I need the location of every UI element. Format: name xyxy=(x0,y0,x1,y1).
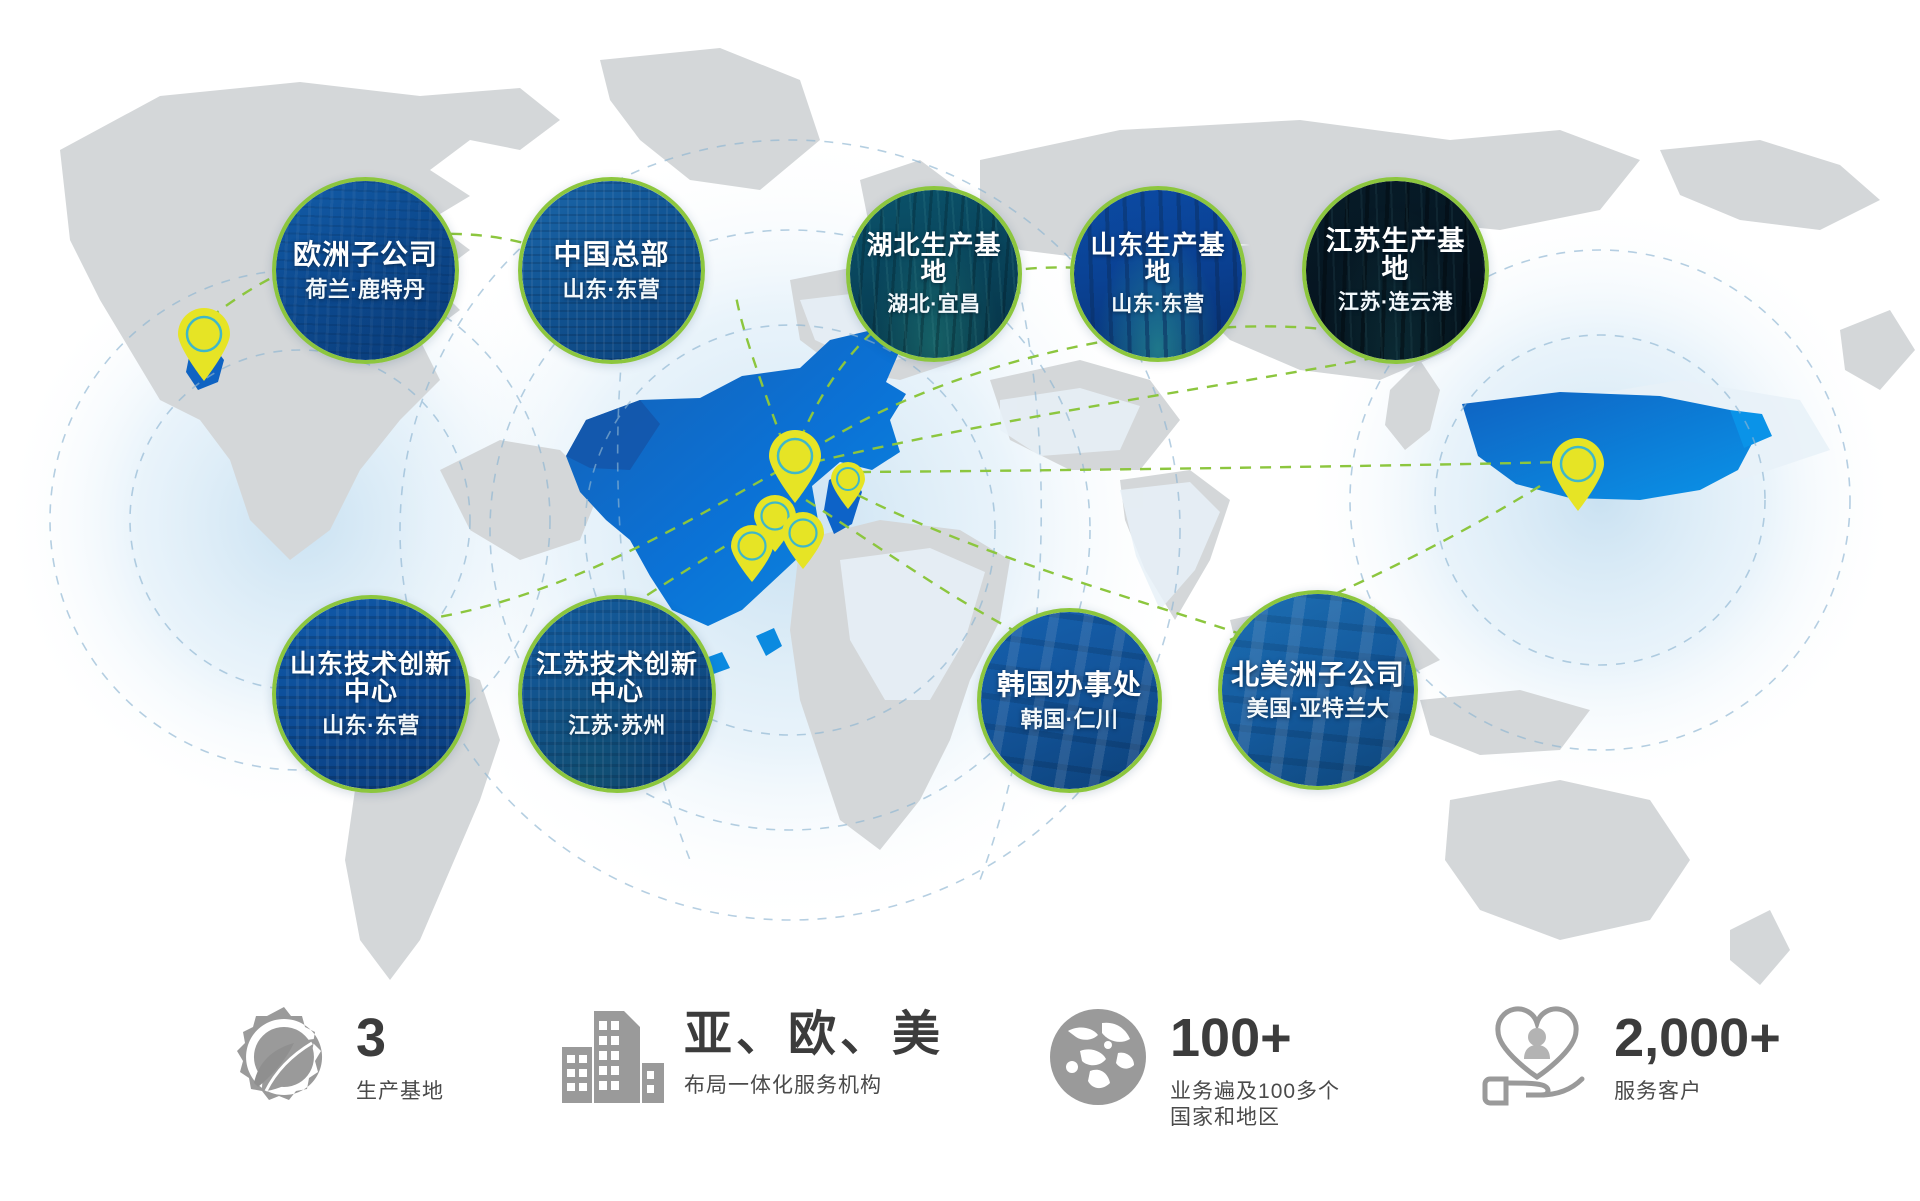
node-title: 中国总部 xyxy=(528,240,695,269)
node-title: 江苏技术创新中心 xyxy=(528,651,706,706)
node-subtitle: 山东·东营 xyxy=(282,714,460,737)
node-shandong-base[interactable]: 山东生产基地 山东·东营 xyxy=(1070,186,1246,362)
node-title: 欧洲子公司 xyxy=(282,240,449,269)
node-north-america-subsidiary[interactable]: 北美洲子公司 美国·亚特兰大 xyxy=(1218,590,1418,790)
stat-countries: 100+ 业务遍及100多个 国家和地区 xyxy=(1046,1005,1340,1132)
infographic-stage: 欧洲子公司 荷兰·鹿特丹 中国总部 山东·东营 湖北生产基地 湖北·宜昌 山东生… xyxy=(0,0,1920,1201)
node-title: 江苏生产基地 xyxy=(1312,227,1479,284)
stat-customers: 2,000+ 服务客户 xyxy=(1480,1005,1781,1114)
globe-icon xyxy=(1046,1005,1150,1114)
node-jiangsu-innovation-center[interactable]: 江苏技术创新中心 江苏·苏州 xyxy=(518,595,716,793)
stat-regions: 亚、欧、美 布局一体化服务机构 xyxy=(554,1005,944,1114)
node-title: 北美洲子公司 xyxy=(1228,660,1408,689)
stat-label: 布局一体化服务机构 xyxy=(684,1073,944,1099)
stat-label: 服务客户 xyxy=(1614,1079,1781,1105)
stat-label: 生产基地 xyxy=(356,1079,444,1105)
node-korea-office[interactable]: 韩国办事处 韩国·仁川 xyxy=(977,608,1162,793)
node-jiangsu-base[interactable]: 江苏生产基地 江苏·连云港 xyxy=(1302,177,1489,364)
node-subtitle: 山东·东营 xyxy=(528,278,695,301)
stat-production-bases: 3 生产基地 xyxy=(232,1005,444,1114)
node-title: 湖北生产基地 xyxy=(856,232,1012,287)
node-subtitle: 湖北·宜昌 xyxy=(856,294,1012,316)
heart-hand-icon xyxy=(1480,1005,1594,1114)
stat-value: 100+ xyxy=(1170,1011,1340,1065)
node-title: 韩国办事处 xyxy=(987,670,1152,699)
node-subtitle: 江苏·苏州 xyxy=(528,714,706,737)
node-shandong-innovation-center[interactable]: 山东技术创新中心 山东·东营 xyxy=(272,595,470,793)
gear-leaf-icon xyxy=(232,1005,336,1114)
node-subtitle: 山东·东营 xyxy=(1080,294,1236,316)
node-subtitle: 美国·亚特兰大 xyxy=(1228,697,1408,720)
node-china-hq[interactable]: 中国总部 山东·东营 xyxy=(518,177,705,364)
stat-label: 业务遍及100多个 国家和地区 xyxy=(1170,1079,1340,1132)
stat-value: 3 xyxy=(356,1011,444,1065)
node-subtitle: 荷兰·鹿特丹 xyxy=(282,278,449,301)
stat-value: 2,000+ xyxy=(1614,1011,1781,1065)
node-title: 山东技术创新中心 xyxy=(282,651,460,706)
buildings-icon xyxy=(554,1005,664,1114)
stats-row: 3 生产基地 xyxy=(0,1005,1920,1180)
node-title: 山东生产基地 xyxy=(1080,232,1236,287)
node-subtitle: 江苏·连云港 xyxy=(1312,292,1479,314)
node-europe-subsidiary[interactable]: 欧洲子公司 荷兰·鹿特丹 xyxy=(272,177,459,364)
node-hubei-base[interactable]: 湖北生产基地 湖北·宜昌 xyxy=(846,186,1022,362)
node-subtitle: 韩国·仁川 xyxy=(987,708,1152,731)
stat-value: 亚、欧、美 xyxy=(684,1011,944,1059)
